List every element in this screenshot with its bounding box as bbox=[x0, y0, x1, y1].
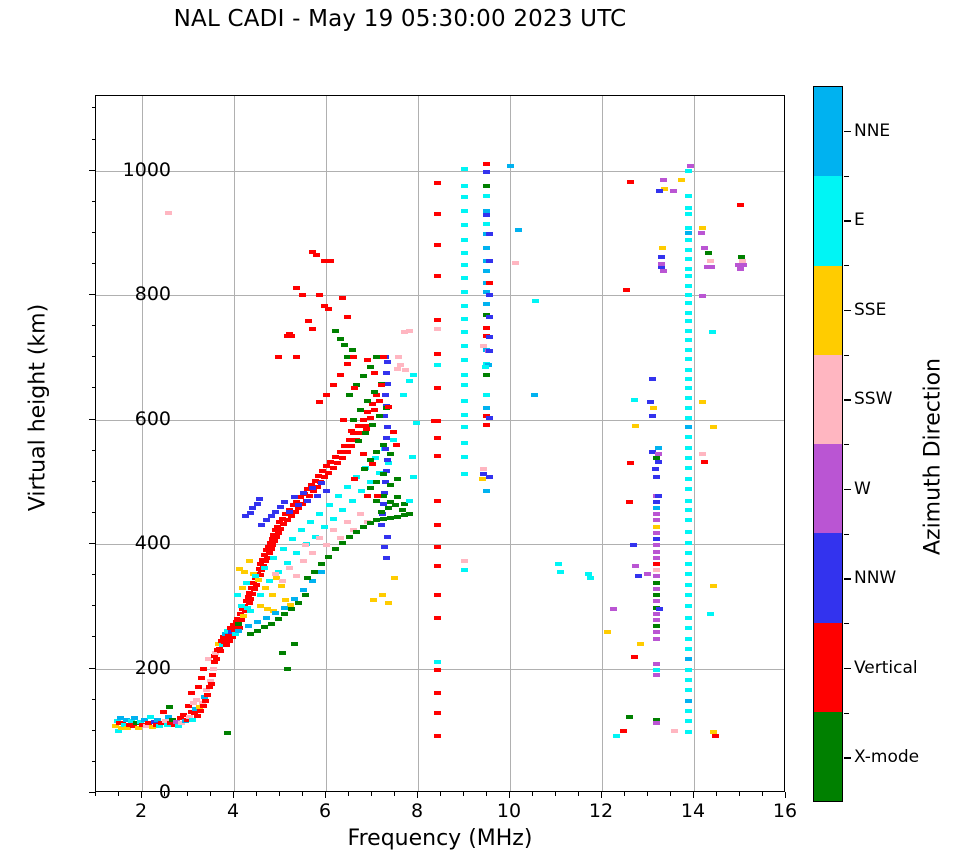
echo-point bbox=[461, 209, 468, 213]
echo-point bbox=[685, 169, 692, 173]
echo-point bbox=[649, 414, 656, 418]
echo-point bbox=[247, 632, 254, 636]
echo-point bbox=[685, 593, 692, 597]
echo-point bbox=[483, 246, 490, 250]
echo-point bbox=[271, 539, 278, 543]
echo-point bbox=[246, 601, 253, 605]
colorbar-segment-w bbox=[814, 444, 842, 533]
echo-point bbox=[391, 576, 398, 580]
echo-point bbox=[555, 562, 562, 566]
echo-point bbox=[685, 551, 692, 555]
echo-point bbox=[626, 715, 633, 719]
echo-point bbox=[344, 485, 351, 489]
x-minor-tick bbox=[95, 792, 96, 796]
echo-point bbox=[685, 301, 692, 305]
echo-point bbox=[461, 223, 468, 227]
y-tick-mark bbox=[89, 543, 95, 544]
echo-point bbox=[249, 592, 256, 596]
echo-point bbox=[483, 326, 490, 330]
echo-point bbox=[344, 450, 351, 454]
echo-point bbox=[649, 377, 656, 381]
echo-point bbox=[699, 294, 706, 298]
echo-point bbox=[300, 588, 307, 592]
colorbar-label-nnw: NNW bbox=[854, 568, 896, 588]
echo-point bbox=[483, 302, 490, 306]
echo-point bbox=[280, 547, 287, 551]
echo-point bbox=[266, 579, 273, 583]
echo-point bbox=[685, 396, 692, 400]
echo-point bbox=[323, 543, 330, 547]
y-tick-mark bbox=[89, 668, 95, 669]
echo-point bbox=[653, 574, 660, 578]
echo-point bbox=[653, 668, 660, 672]
echo-point bbox=[263, 616, 270, 620]
echo-point bbox=[238, 604, 245, 608]
echo-point bbox=[254, 629, 261, 633]
echo-point bbox=[360, 374, 367, 378]
echo-point bbox=[198, 676, 205, 680]
echo-point bbox=[316, 512, 323, 516]
echo-point bbox=[406, 329, 413, 333]
echo-point bbox=[434, 523, 441, 527]
echo-point bbox=[318, 562, 325, 566]
echo-point bbox=[685, 456, 692, 460]
x-tick-mark bbox=[141, 792, 142, 798]
echo-point bbox=[288, 514, 295, 518]
echo-point bbox=[410, 475, 417, 479]
echo-point bbox=[291, 642, 298, 646]
echo-point bbox=[371, 390, 378, 394]
echo-point bbox=[685, 406, 692, 410]
echo-point bbox=[393, 443, 400, 447]
echo-point bbox=[293, 551, 300, 555]
echo-point bbox=[461, 399, 468, 403]
echo-point bbox=[302, 593, 309, 597]
colorbar-tick bbox=[844, 757, 851, 758]
echo-point bbox=[461, 290, 468, 294]
x-minor-tick bbox=[118, 792, 119, 796]
echo-point bbox=[653, 662, 660, 666]
echo-point bbox=[298, 528, 305, 532]
colorbar-tick bbox=[844, 489, 851, 490]
echo-point bbox=[286, 510, 293, 514]
echo-point bbox=[461, 425, 468, 429]
echo-point bbox=[653, 550, 660, 554]
echo-point bbox=[512, 261, 519, 265]
echo-point bbox=[367, 416, 374, 420]
echo-point bbox=[515, 228, 522, 232]
echo-point bbox=[348, 429, 355, 433]
colorbar-label-x-mode: X-mode bbox=[854, 747, 919, 767]
y-minor-tick bbox=[92, 232, 96, 233]
x-tick-mark bbox=[601, 792, 602, 798]
echo-point bbox=[390, 430, 397, 434]
echo-point bbox=[409, 455, 416, 459]
echo-point bbox=[653, 599, 660, 603]
echo-point bbox=[653, 721, 660, 725]
echo-point bbox=[685, 368, 692, 372]
echo-point bbox=[258, 523, 265, 527]
echo-point bbox=[234, 593, 241, 597]
echo-point bbox=[304, 499, 311, 503]
echo-point bbox=[705, 251, 712, 255]
y-minor-tick bbox=[92, 699, 96, 700]
echo-point bbox=[299, 293, 306, 297]
echo-point bbox=[247, 597, 254, 601]
echo-point bbox=[653, 637, 660, 641]
echo-point bbox=[461, 455, 468, 459]
echo-point bbox=[659, 246, 666, 250]
echo-point bbox=[252, 574, 259, 578]
echo-point bbox=[385, 405, 392, 409]
echo-point bbox=[402, 368, 409, 372]
x-minor-tick bbox=[486, 792, 487, 796]
echo-point bbox=[382, 393, 389, 397]
echo-point bbox=[698, 231, 705, 235]
echo-point bbox=[293, 286, 300, 290]
echo-point bbox=[284, 561, 291, 565]
echo-point bbox=[367, 486, 374, 490]
echo-point bbox=[300, 491, 307, 495]
echo-point bbox=[685, 267, 692, 271]
echo-point bbox=[687, 164, 694, 168]
echo-point bbox=[486, 475, 493, 479]
echo-point bbox=[263, 518, 270, 522]
echo-point bbox=[371, 371, 378, 375]
x-minor-tick bbox=[762, 792, 763, 796]
echo-point bbox=[461, 184, 468, 188]
echo-point bbox=[434, 660, 441, 664]
echo-point bbox=[434, 243, 441, 247]
colorbar-tick bbox=[844, 310, 851, 311]
echo-point bbox=[461, 413, 468, 417]
echo-point bbox=[364, 358, 371, 362]
colorbar-tick bbox=[844, 668, 851, 669]
y-minor-tick bbox=[92, 356, 96, 357]
colorbar-label-vertical: Vertical bbox=[854, 658, 918, 678]
colorbar-label-ssw: SSW bbox=[854, 389, 892, 409]
echo-point bbox=[281, 500, 288, 504]
echo-point bbox=[387, 483, 394, 487]
echo-point bbox=[327, 259, 334, 263]
echo-point bbox=[406, 512, 413, 516]
echo-point bbox=[461, 304, 468, 308]
echo-point bbox=[349, 348, 356, 352]
echo-point bbox=[383, 436, 390, 440]
echo-point bbox=[635, 574, 642, 578]
y-tick-mark bbox=[89, 294, 95, 295]
echo-point bbox=[685, 647, 692, 651]
echo-point bbox=[384, 360, 391, 364]
echo-point bbox=[253, 583, 260, 587]
echo-point bbox=[653, 673, 660, 677]
x-minor-tick bbox=[187, 792, 188, 796]
echo-point bbox=[279, 579, 286, 583]
echo-point bbox=[652, 467, 659, 471]
echo-point bbox=[699, 400, 706, 404]
echo-point bbox=[653, 506, 660, 510]
echo-point bbox=[610, 607, 617, 611]
x-tick-label: 4 bbox=[227, 800, 239, 822]
colorbar-boundary-tick bbox=[844, 176, 849, 177]
echo-point bbox=[321, 475, 328, 479]
echo-point bbox=[384, 458, 391, 462]
echo-point bbox=[280, 522, 287, 526]
echo-point bbox=[685, 284, 692, 288]
echo-point bbox=[269, 593, 276, 597]
echo-point bbox=[321, 525, 328, 529]
echo-point bbox=[685, 626, 692, 630]
echo-point bbox=[194, 714, 201, 718]
echo-point bbox=[434, 363, 441, 367]
echo-point bbox=[200, 667, 207, 671]
echo-point bbox=[685, 348, 692, 352]
echo-point bbox=[326, 503, 333, 507]
echo-point bbox=[480, 467, 487, 471]
echo-point bbox=[147, 715, 154, 719]
echo-point bbox=[209, 673, 216, 677]
echo-point bbox=[394, 477, 401, 481]
colorbar-boundary-tick bbox=[844, 623, 849, 624]
x-minor-tick bbox=[647, 792, 648, 796]
colorbar-segment-x-mode bbox=[814, 712, 842, 801]
colorbar-boundary-tick bbox=[844, 713, 849, 714]
echo-point bbox=[658, 255, 665, 259]
x-minor-tick bbox=[739, 792, 740, 796]
x-tick-mark bbox=[509, 792, 510, 798]
page-title: NAL CADI - May 19 05:30:00 2023 UTC bbox=[0, 6, 800, 32]
echo-point bbox=[240, 614, 247, 618]
echo-point bbox=[364, 399, 371, 403]
echo-point bbox=[434, 352, 441, 356]
colorbar-boundary-tick bbox=[844, 355, 849, 356]
echo-point bbox=[653, 624, 660, 628]
y-tick-label: 600 bbox=[135, 408, 171, 430]
echo-point bbox=[685, 508, 692, 512]
echo-point bbox=[660, 269, 667, 273]
echo-point bbox=[160, 710, 167, 714]
y-tick-mark bbox=[89, 170, 95, 171]
y-minor-tick bbox=[92, 605, 96, 606]
echo-point bbox=[363, 427, 370, 431]
echo-point bbox=[286, 566, 293, 570]
echo-point bbox=[483, 423, 490, 427]
y-minor-tick bbox=[92, 512, 96, 513]
echo-point bbox=[653, 612, 660, 616]
y-minor-tick bbox=[92, 139, 96, 140]
echo-point bbox=[632, 424, 639, 428]
x-minor-tick bbox=[578, 792, 579, 796]
colorbar bbox=[813, 86, 843, 802]
echo-point bbox=[461, 167, 468, 171]
echo-point bbox=[316, 536, 323, 540]
echo-point bbox=[379, 593, 386, 597]
echo-point bbox=[486, 281, 493, 285]
echo-point bbox=[378, 523, 385, 527]
echo-point bbox=[239, 586, 246, 590]
echo-point bbox=[307, 520, 314, 524]
scatter-data-layer bbox=[96, 96, 784, 791]
echo-point bbox=[685, 616, 692, 620]
echo-point bbox=[685, 678, 692, 682]
x-tick-label: 12 bbox=[589, 800, 613, 822]
echo-point bbox=[434, 499, 441, 503]
echo-point bbox=[685, 499, 692, 503]
echo-point bbox=[278, 584, 285, 588]
echo-point bbox=[376, 414, 383, 418]
echo-point bbox=[256, 497, 263, 501]
echo-point bbox=[653, 581, 660, 585]
echo-point bbox=[461, 317, 468, 321]
echo-point bbox=[321, 304, 328, 308]
echo-point bbox=[656, 189, 663, 193]
echo-point bbox=[334, 461, 341, 465]
echo-point bbox=[532, 299, 539, 303]
echo-point bbox=[202, 699, 209, 703]
x-minor-tick bbox=[256, 792, 257, 796]
echo-point bbox=[380, 443, 387, 447]
echo-point bbox=[483, 373, 490, 377]
echo-point bbox=[483, 162, 490, 166]
echo-point bbox=[712, 734, 719, 738]
echo-point bbox=[288, 334, 295, 338]
echo-point bbox=[197, 709, 204, 713]
echo-point bbox=[397, 363, 404, 367]
echo-point bbox=[241, 570, 248, 574]
echo-point bbox=[387, 452, 394, 456]
echo-point bbox=[653, 525, 660, 529]
echo-point bbox=[707, 259, 714, 263]
echo-point bbox=[406, 379, 413, 383]
echo-point bbox=[685, 274, 692, 278]
x-tick-mark bbox=[325, 792, 326, 798]
echo-point bbox=[394, 367, 401, 371]
echo-point bbox=[344, 520, 351, 524]
echo-point bbox=[644, 572, 651, 576]
echo-point bbox=[685, 416, 692, 420]
echo-point bbox=[653, 500, 660, 504]
echo-point bbox=[685, 311, 692, 315]
echo-point bbox=[482, 365, 489, 369]
echo-point bbox=[261, 625, 268, 629]
colorbar-title: Azimuth Direction bbox=[921, 287, 946, 627]
echo-point bbox=[685, 699, 692, 703]
y-tick-mark bbox=[89, 419, 95, 420]
echo-point bbox=[483, 170, 490, 174]
echo-point bbox=[685, 446, 692, 450]
echo-point bbox=[483, 489, 490, 493]
colorbar-boundary-tick bbox=[844, 444, 849, 445]
echo-point bbox=[370, 598, 377, 602]
echo-point bbox=[685, 206, 692, 210]
echo-point bbox=[434, 386, 441, 390]
y-minor-tick bbox=[92, 450, 96, 451]
echo-point bbox=[707, 612, 714, 616]
echo-point bbox=[330, 517, 337, 521]
echo-point bbox=[710, 584, 717, 588]
echo-point bbox=[395, 355, 402, 359]
echo-point bbox=[311, 570, 318, 574]
echo-point bbox=[710, 425, 717, 429]
echo-point bbox=[189, 718, 196, 722]
echo-point bbox=[344, 362, 351, 366]
echo-point bbox=[685, 719, 692, 723]
echo-point bbox=[434, 181, 441, 185]
echo-point bbox=[367, 365, 374, 369]
echo-point bbox=[387, 500, 394, 504]
x-minor-tick bbox=[716, 792, 717, 796]
echo-point bbox=[246, 559, 253, 563]
echo-point bbox=[631, 655, 638, 659]
echo-point bbox=[330, 528, 337, 532]
echo-point bbox=[247, 609, 254, 613]
echo-point bbox=[685, 357, 692, 361]
echo-point bbox=[302, 543, 309, 547]
echo-point bbox=[604, 630, 611, 634]
echo-point bbox=[314, 494, 321, 498]
echo-point bbox=[289, 537, 296, 541]
echo-point bbox=[653, 630, 660, 634]
echo-point bbox=[461, 276, 468, 280]
echo-point bbox=[461, 263, 468, 267]
echo-point bbox=[486, 349, 493, 353]
echo-point bbox=[630, 543, 637, 547]
echo-point bbox=[461, 559, 468, 563]
echo-point bbox=[660, 178, 667, 182]
echo-point bbox=[461, 330, 468, 334]
echo-point bbox=[306, 494, 313, 498]
echo-point bbox=[304, 576, 311, 580]
echo-point bbox=[483, 184, 490, 188]
x-minor-tick bbox=[279, 792, 280, 796]
echo-point bbox=[653, 543, 660, 547]
echo-point bbox=[208, 682, 215, 686]
echo-point bbox=[369, 462, 376, 466]
echo-point bbox=[637, 642, 644, 646]
echo-point bbox=[362, 431, 369, 435]
echo-point bbox=[210, 667, 217, 671]
echo-point bbox=[337, 536, 344, 540]
echo-point bbox=[383, 556, 390, 560]
colorbar-label-w: W bbox=[854, 479, 871, 499]
echo-point bbox=[323, 489, 330, 493]
echo-point bbox=[262, 586, 269, 590]
echo-point bbox=[685, 572, 692, 576]
y-minor-tick bbox=[92, 481, 96, 482]
x-minor-tick bbox=[371, 792, 372, 796]
echo-point bbox=[461, 358, 468, 362]
echo-point bbox=[685, 530, 692, 534]
echo-point bbox=[346, 393, 353, 397]
echo-point bbox=[275, 531, 282, 535]
echo-point bbox=[335, 494, 342, 498]
echo-point bbox=[350, 355, 357, 359]
echo-point bbox=[195, 685, 202, 689]
echo-point bbox=[653, 618, 660, 622]
echo-point bbox=[653, 512, 660, 516]
echo-point bbox=[531, 393, 538, 397]
colorbar-boundary-tick bbox=[844, 534, 849, 535]
colorbar-tick bbox=[844, 131, 851, 132]
echo-point bbox=[349, 499, 356, 503]
colorbar-segment-nnw bbox=[814, 533, 842, 622]
echo-point bbox=[339, 296, 346, 300]
echo-point bbox=[434, 212, 441, 216]
echo-point bbox=[486, 259, 493, 263]
echo-point bbox=[337, 337, 344, 341]
echo-point bbox=[288, 607, 295, 611]
echo-point bbox=[341, 343, 348, 347]
